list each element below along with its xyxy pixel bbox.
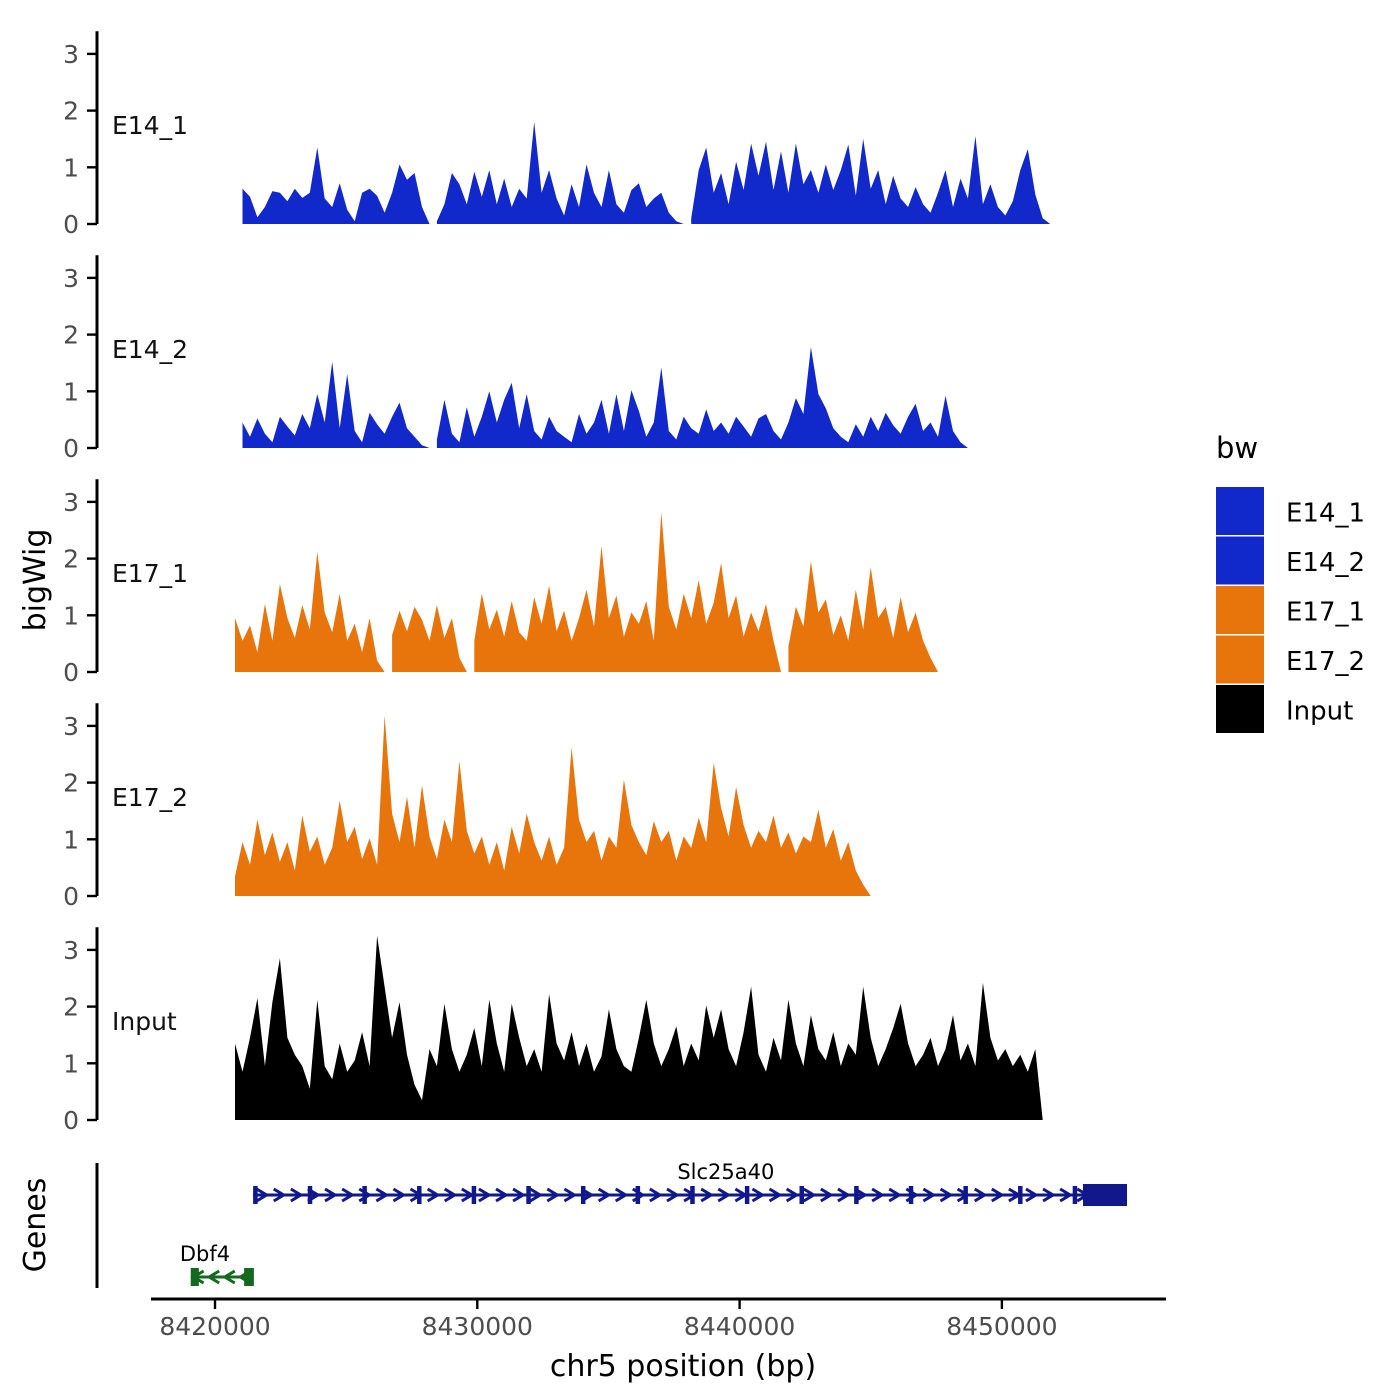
y-tick-label: 0: [63, 210, 79, 239]
legend-label: E14_1: [1286, 499, 1365, 529]
genes-axis-label: Genes: [18, 1178, 53, 1273]
gene-exon: [745, 1186, 750, 1204]
gene-terminal-exon: [191, 1268, 199, 1286]
y-tick-label: 1: [63, 153, 79, 182]
gene-name-label: Dbf4: [180, 1242, 230, 1266]
coverage-area-e17_1: [235, 512, 938, 672]
y-tick-label: 3: [63, 936, 79, 965]
gene-exon: [690, 1186, 695, 1204]
coverage-area-e14_2: [243, 347, 968, 448]
gene-exon: [1073, 1186, 1078, 1204]
gene-exon: [1018, 1186, 1023, 1204]
track-e17_1: 0123E17_1: [63, 479, 938, 687]
x-axis-label: chr5 position (bp): [550, 1349, 816, 1384]
y-tick-label: 1: [63, 825, 79, 854]
y-tick-label: 3: [63, 488, 79, 517]
legend-label: E17_2: [1286, 647, 1365, 677]
gene-dbf4[interactable]: Dbf4: [180, 1242, 254, 1286]
y-tick-label: 2: [63, 321, 79, 350]
y-tick-label: 3: [63, 264, 79, 293]
y-tick-label: 0: [63, 882, 79, 911]
legend-item-e14_2[interactable]: E14_2: [1216, 537, 1365, 585]
x-tick-label: 8430000: [422, 1312, 533, 1341]
track-e14_1: 0123E14_1: [63, 31, 1050, 239]
track-name-label: E14_1: [112, 111, 188, 140]
track-e17_2: 0123E17_2: [63, 703, 871, 911]
legend-title: bw: [1216, 431, 1258, 465]
y-tick-label: 3: [63, 712, 79, 741]
legend-swatch: [1216, 586, 1264, 634]
gene-exon: [963, 1186, 968, 1204]
legend-item-e14_1[interactable]: E14_1: [1216, 487, 1365, 535]
gene-terminal-exon: [244, 1268, 253, 1286]
legend-swatch: [1216, 685, 1264, 733]
coverage-area-input: [235, 936, 1043, 1120]
gene-exon: [362, 1186, 367, 1204]
x-tick-label: 8420000: [159, 1312, 270, 1341]
gene-terminal-exon: [1083, 1184, 1127, 1206]
gene-exon: [854, 1186, 859, 1204]
track-name-label: E17_1: [112, 559, 188, 588]
figure-canvas: 0123E14_10123E14_20123E17_10123E17_20123…: [0, 0, 1400, 1400]
coverage-area-e14_1: [243, 122, 1051, 224]
legend-label: Input: [1286, 697, 1353, 727]
legend-swatch: [1216, 487, 1264, 535]
y-tick-label: 2: [63, 993, 79, 1022]
y-tick-label: 1: [63, 1049, 79, 1078]
gene-exon: [799, 1186, 804, 1204]
legend-label: E14_2: [1286, 548, 1365, 578]
gene-exon: [253, 1186, 258, 1204]
legend-swatch: [1216, 537, 1264, 585]
legend-swatch: [1216, 636, 1264, 684]
bigwig-axis-label: bigWig: [18, 529, 53, 632]
legend-item-input[interactable]: Input: [1216, 685, 1353, 733]
coverage-area-e17_2: [235, 716, 871, 896]
y-tick-label: 1: [63, 377, 79, 406]
track-e14_2: 0123E14_2: [63, 255, 968, 463]
track-input: 0123Input: [63, 927, 1043, 1135]
x-tick-label: 8450000: [946, 1312, 1057, 1341]
gene-exon: [417, 1186, 422, 1204]
gene-exon: [636, 1186, 641, 1204]
x-tick-label: 8440000: [684, 1312, 795, 1341]
y-tick-label: 1: [63, 601, 79, 630]
y-tick-label: 0: [63, 658, 79, 687]
y-tick-label: 2: [63, 97, 79, 126]
y-tick-label: 0: [63, 1106, 79, 1135]
gene-exon: [472, 1186, 477, 1204]
track-name-label: E17_2: [112, 783, 188, 812]
y-tick-label: 0: [63, 434, 79, 463]
legend-item-e17_1[interactable]: E17_1: [1216, 586, 1365, 634]
track-name-label: E14_2: [112, 335, 188, 364]
gene-name-label: Slc25a40: [677, 1160, 774, 1184]
track-name-label: Input: [112, 1007, 177, 1036]
legend-label: E17_1: [1286, 598, 1365, 628]
gene-exon: [526, 1186, 531, 1204]
legend-item-e17_2[interactable]: E17_2: [1216, 636, 1365, 684]
y-tick-label: 3: [63, 40, 79, 69]
genome-browser-figure: 0123E14_10123E14_20123E17_10123E17_20123…: [0, 0, 1400, 1400]
y-tick-label: 2: [63, 545, 79, 574]
y-tick-label: 2: [63, 769, 79, 798]
gene-exon: [581, 1186, 586, 1204]
gene-exon: [308, 1186, 313, 1204]
gene-exon: [909, 1186, 914, 1204]
gene-slc25a40[interactable]: Slc25a40: [253, 1160, 1127, 1206]
